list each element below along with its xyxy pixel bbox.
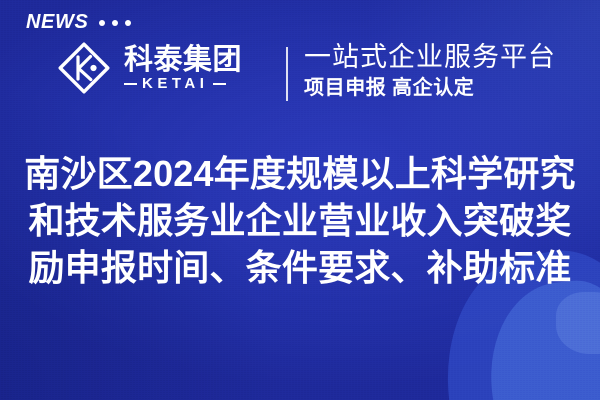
- brand-names: 科泰集团 KETAI: [124, 45, 242, 92]
- brand-name-cn: 科泰集团: [124, 45, 242, 76]
- brand-logo: 科泰集团 KETAI: [56, 40, 242, 96]
- ketai-diamond-k-logo-icon: [56, 40, 112, 96]
- news-dots-icon: [99, 20, 131, 26]
- brand-name-en: KETAI: [142, 76, 208, 91]
- brand-name-en-row: KETAI: [124, 76, 242, 91]
- tagline-main: 一站式企业服务平台: [304, 42, 556, 72]
- brand-dash-right-icon: [213, 83, 226, 86]
- headline-line-3: 励申报时间、条件要求、补助标准: [0, 244, 600, 291]
- news-banner: NEWS 科泰集团 KETAI: [0, 0, 600, 400]
- tagline-sub: 项目申报 高企认定: [304, 76, 556, 100]
- tagline-block: 一站式企业服务平台 项目申报 高企认定: [304, 42, 556, 100]
- headline-line-1: 南沙区2024年度规模以上科学研究: [0, 150, 600, 197]
- headline-line-2: 和技术服务业企业营业收入突破奖: [0, 197, 600, 244]
- news-eyebrow: NEWS: [26, 12, 131, 32]
- news-dot: [125, 20, 131, 26]
- page-title: 南沙区2024年度规模以上科学研究 和技术服务业企业营业收入突破奖 励申报时间、…: [0, 150, 600, 291]
- news-dot: [112, 20, 118, 26]
- news-dot: [99, 20, 105, 26]
- news-label: NEWS: [26, 12, 88, 32]
- brand-divider: [286, 47, 288, 101]
- brand-dash-left-icon: [124, 83, 137, 86]
